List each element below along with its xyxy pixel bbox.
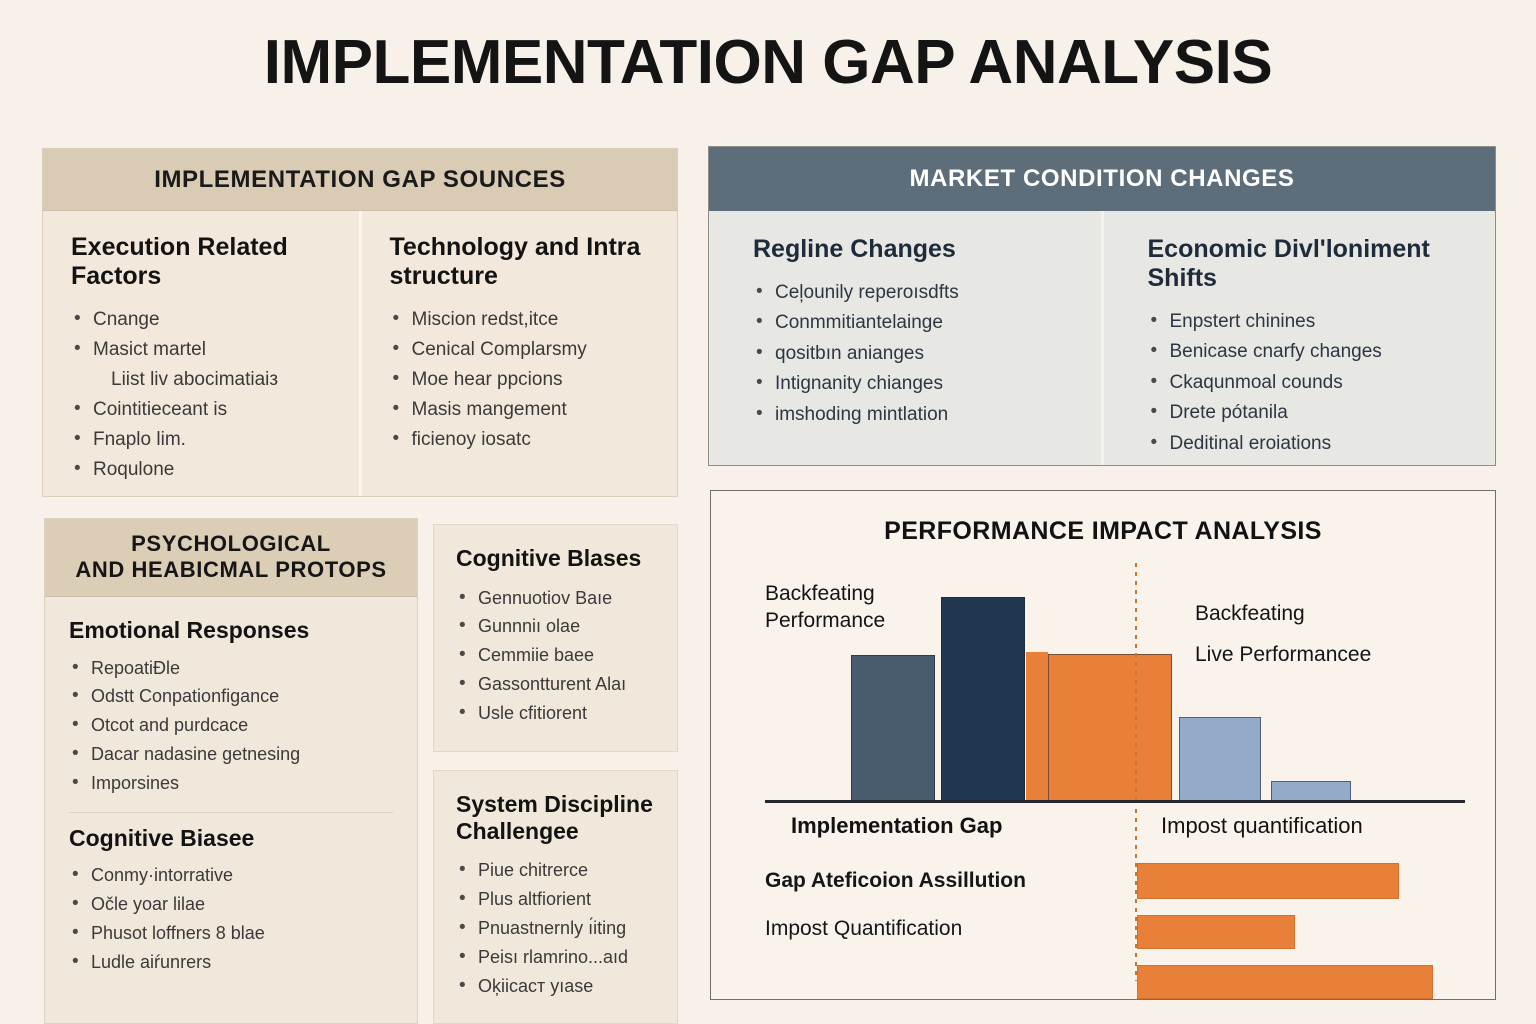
chart-legend-left: Backfeating Performance: [765, 581, 885, 635]
bar-series-1: [851, 655, 935, 803]
hbar-3: [1137, 965, 1433, 999]
market-column-economic-shifts: Economic Divl'loniment Shifts Enpstert c…: [1101, 211, 1496, 465]
list-item: Cemmiie baee: [456, 641, 659, 670]
card-cognitive-biases: Cognitive Blases Gennuotiov Baıe Gunnniı…: [433, 524, 678, 752]
list-item: Cnange: [71, 305, 333, 335]
panel-psychological-and-behavioral: PSYCHOLOGICAL AND HEABICMAL PROTOPS Emot…: [44, 518, 418, 1024]
chart-x-axis: [765, 800, 1465, 803]
list-item: Oķiicacт yıase: [456, 972, 659, 1001]
list-item: Odstt Conpationfigance: [69, 682, 397, 711]
hbar-column-title-left: Implementation Gap: [791, 813, 1002, 839]
subheading-execution-related-factors: Execution Related Factors: [71, 233, 333, 291]
list-item: Piue chitrerce: [456, 856, 659, 885]
panel-performance-impact-analysis: PERFORMANCE IMPACT ANALYSIS Backfeating …: [710, 490, 1496, 1000]
subheading-regline-changes: Regline Changes: [753, 235, 1083, 264]
chart-legend-right: Backfeating Live Performancee: [1195, 601, 1371, 669]
bullet-list-technology-and-infrastructure: Miscion redst,itce Cenical Complarsmy Mo…: [390, 305, 652, 455]
hbar-label-1: Gap Ateficoion Assillution: [765, 869, 1026, 893]
list-item: Gunnniı olae: [456, 612, 659, 641]
gap-sources-column-execution: Execution Related Factors Cnange Masict …: [43, 211, 359, 496]
list-item: Gassontturent Alaı: [456, 670, 659, 699]
list-item: Liist liv abocimatiaiз: [71, 365, 333, 395]
list-item: Pnuastnernly ı́iting: [456, 914, 659, 943]
panel-header-psychological: PSYCHOLOGICAL AND HEABICMAL PROTOPS: [45, 519, 417, 597]
list-item: Masis mangement: [390, 395, 652, 425]
panel-header-line-1: PSYCHOLOGICAL: [55, 531, 407, 557]
page-title: IMPLEMENTATION GAP ANALYSIS: [0, 30, 1536, 95]
card-heading-cognitive-biases: Cognitive Blases: [456, 545, 659, 572]
bullet-list-system-discipline: Piue chitrerce Plus altfiorient Pnuastne…: [456, 856, 659, 1000]
list-item: Imporsines: [69, 769, 397, 798]
bullet-list-regline-changes: Cel̦ounily reperoısdfts Conmmitiantelain…: [753, 278, 1083, 430]
list-item: imshoding mintlation: [753, 400, 1083, 430]
card-heading-system-discipline: System Discipline Challengee: [456, 791, 659, 844]
subheading-cognitive-biases: Cognitive Biasee: [69, 825, 397, 852]
list-item: qositbın anianges: [753, 339, 1083, 369]
list-item: Ludle aiŕunrers: [69, 948, 397, 977]
list-item: Usle cfitiorent: [456, 699, 659, 728]
list-item: Dacar nadasine getnesing: [69, 740, 397, 769]
list-item: Deditinal eroiations: [1148, 429, 1478, 459]
chart-title-performance-impact: PERFORMANCE IMPACT ANALYSIS: [711, 517, 1495, 546]
list-item: ficienoy iosatc: [390, 425, 652, 455]
hbar-column-title-right: Impost quantification: [1161, 813, 1363, 839]
panel-header-market-condition-changes: MARKET CONDITION CHANGES: [709, 147, 1495, 211]
list-item: Cel̦ounily reperoısdfts: [753, 278, 1083, 308]
vertical-bar-chart: Backfeating Performance Backfeating Live…: [743, 563, 1463, 803]
list-item: Drete pótanila: [1148, 398, 1478, 428]
list-item: Intignanity chianges: [753, 369, 1083, 399]
bullet-list-cognitive-biases: Conmy·intorrative Očle yoar lilae Phusot…: [69, 861, 397, 976]
list-item: Plus altfiorient: [456, 885, 659, 914]
hbar-label-2: Impost Quantification: [765, 917, 962, 941]
list-item: Miscion redst,itce: [390, 305, 652, 335]
list-item: Roqulone: [71, 455, 333, 485]
chart-legend-right-line2: Live Performancee: [1195, 642, 1371, 669]
list-item: Peiѕı rlamrino...aıd: [456, 943, 659, 972]
list-item: Gennuotiov Baıe: [456, 584, 659, 613]
panel-market-condition-changes: MARKET CONDITION CHANGES Regline Changes…: [708, 146, 1496, 466]
bar-series-3: [1026, 652, 1048, 803]
list-item: Phusot loffners 8 blae: [69, 919, 397, 948]
list-item: Moe hear ppcions: [390, 365, 652, 395]
subheading-technology-and-infrastructure: Technology and Intra structure: [390, 233, 652, 291]
chart-legend-right-line1: Backfeating: [1195, 601, 1371, 628]
panel-implementation-gap-sources: IMPLEMENTATION GAP SOUNCES Execution Rel…: [42, 148, 678, 497]
gap-sources-column-technology: Technology and Intra structure Miscion r…: [359, 211, 678, 496]
bar-series-2: [941, 597, 1025, 803]
subheading-economic-development-shifts: Economic Divl'loniment Shifts: [1148, 235, 1478, 293]
chart-divider-line-top: [1135, 563, 1137, 803]
bullet-list-emotional-responses: RepoatiÐle Odstt Conpationfigance Otcot …: [69, 654, 397, 798]
panel-header-gap-sources: IMPLEMENTATION GAP SOUNCES: [43, 149, 677, 211]
list-item: RepoatiÐle: [69, 654, 397, 683]
bar-series-3b: [1048, 654, 1172, 803]
chart-legend-left-line2: Performance: [765, 608, 885, 635]
list-item: Cointitieceant is: [71, 395, 333, 425]
panel-header-line-2: AND HEABICMAL PROTOPS: [55, 557, 407, 583]
bullet-list-cognitive-biases-card: Gennuotiov Baıe Gunnniı olae Cemmiie bae…: [456, 584, 659, 728]
hbar-1: [1137, 863, 1399, 899]
subheading-emotional-responses: Emotional Responses: [69, 617, 397, 644]
list-item: Fnaplo lim.: [71, 425, 333, 455]
card-system-discipline-challenges: System Discipline Challengee Piue chitre…: [433, 770, 678, 1024]
list-item: Očle yoar lilae: [69, 890, 397, 919]
list-item: Masict martel: [71, 335, 333, 365]
chart-legend-left-line1: Backfeating: [765, 581, 885, 608]
list-item: Cenical Complarsmy: [390, 335, 652, 365]
list-item: Conmy·intorrative: [69, 861, 397, 890]
chart-divider-line-bottom: [1135, 809, 1137, 981]
list-item: Otcot and purdcace: [69, 711, 397, 740]
hbar-2: [1137, 915, 1295, 949]
list-item: Ckaqunmoal counds: [1148, 368, 1478, 398]
bar-series-4: [1179, 717, 1261, 803]
bullet-list-execution-related-factors: Cnange Masict martel Liist liv abocimati…: [71, 305, 333, 485]
bullet-list-economic-development-shifts: Enpstert chinines Benicase cnarfy change…: [1148, 307, 1478, 459]
list-item: Conmmitiantelainge: [753, 308, 1083, 338]
horizontal-bar-chart: Implementation Gap Impost quantification…: [743, 813, 1463, 983]
list-item: Enpstert chinines: [1148, 307, 1478, 337]
market-column-regline-changes: Regline Changes Cel̦ounily reperoısdfts …: [709, 211, 1101, 465]
list-item: Benicase cnarfy changes: [1148, 337, 1478, 367]
section-divider: [69, 812, 393, 813]
